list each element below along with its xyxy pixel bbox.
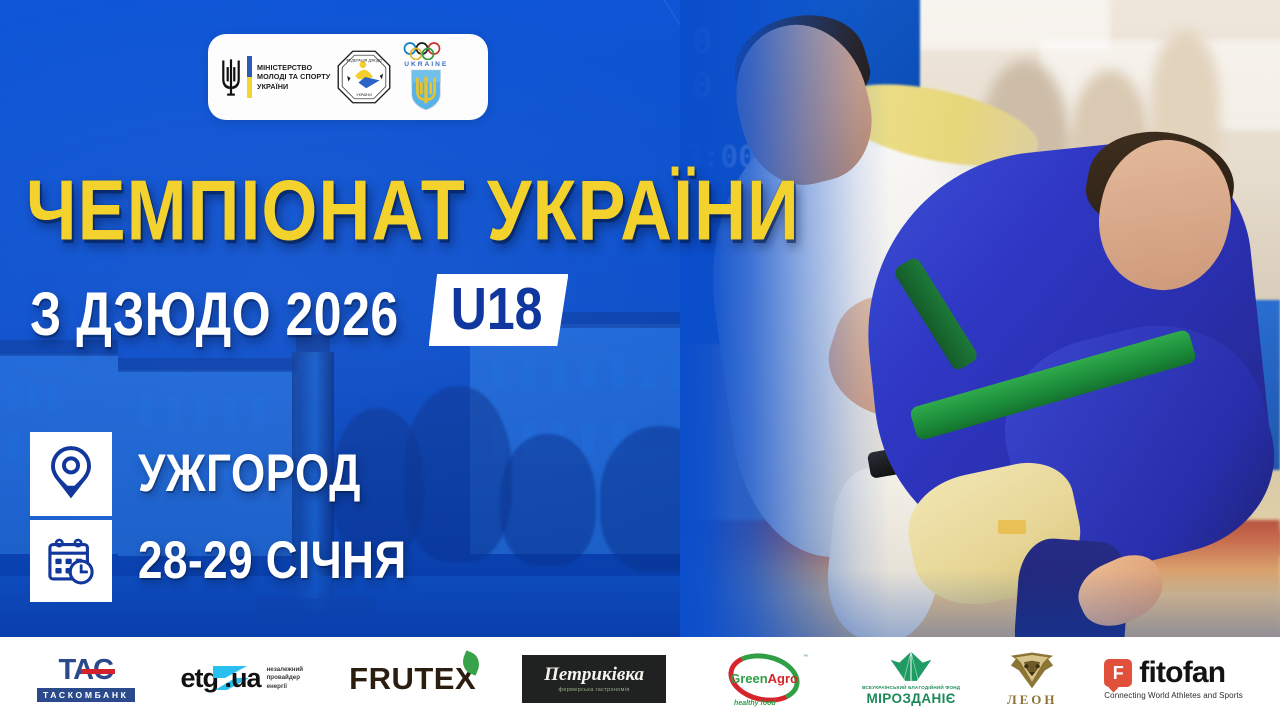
fitofan-mark-letter: F xyxy=(1113,664,1124,682)
date-value: 28-29 СІЧНЯ xyxy=(138,531,407,591)
greenagro-trademark: ™ xyxy=(803,654,808,660)
taskombank-wordmark: TAC xyxy=(59,656,113,685)
mirozdanie-name: МІРОЗДАНІЄ xyxy=(867,692,956,706)
sponsor-greenagro[interactable]: GreenAgro ™ healthy food xyxy=(712,650,816,708)
photo-left-fade xyxy=(680,0,890,640)
map-pin-icon xyxy=(47,445,95,503)
fitofan-wordmark: fitofan xyxy=(1139,658,1225,688)
etg-tagline: незалежний провайдер енергії xyxy=(267,666,304,691)
location-icon-box xyxy=(30,432,112,516)
sponsor-fitofan[interactable]: F fitofan Connecting World Athletes and … xyxy=(1104,650,1243,708)
sponsor-frutex[interactable]: FRUTEX xyxy=(349,650,476,708)
mirozdanie-tagline: ВСЕУКРАЇНСЬКИЙ БЛАГОДІЙНИЙ ФОНД xyxy=(862,685,960,690)
ukraine-shield-icon xyxy=(409,69,443,111)
leaf-icon xyxy=(459,650,483,675)
leon-name: ЛЕОН xyxy=(1007,693,1058,706)
age-category-label: U18 xyxy=(451,280,543,339)
age-category-badge: U18 xyxy=(429,274,569,346)
etg-wordmark: etg .ua xyxy=(181,665,261,692)
sponsor-bar: TAC ТАСКОМБАНК etg .ua незалежний провай… xyxy=(0,637,1280,720)
frutex-wordmark: FRUTEX xyxy=(349,663,476,694)
sponsor-leon[interactable]: ЛЕОН xyxy=(1006,650,1058,708)
greenagro-wordmark: GreenAgro xyxy=(730,672,798,685)
ministry-logo: МІНІСТЕРСТВО МОЛОДІ ТА СПОРТУ УКРАЇНИ xyxy=(220,55,330,99)
sponsor-mirozdanie[interactable]: ВСЕУКРАЇНСЬКИЙ БЛАГОДІЙНИЙ ФОНД МІРОЗДАН… xyxy=(862,650,960,708)
trident-icon xyxy=(220,55,242,99)
ukraine-flag-bar xyxy=(247,56,252,98)
judo-athletes-photo: 0 0 3:00 xyxy=(680,0,1280,640)
noc-country-label: UKRAINE xyxy=(404,61,448,68)
petrykivka-tagline: фермерська гастрономія xyxy=(558,687,629,693)
lion-head-icon xyxy=(1006,652,1058,692)
page-title-line2: З ДЗЮДО 2026 xyxy=(30,284,399,345)
fitofan-tagline: Connecting World Athletes and Sports xyxy=(1104,691,1243,700)
page-title-line2-row: З ДЗЮДО 2026 U18 xyxy=(30,284,568,346)
location-row: УЖГОРОД xyxy=(30,432,361,516)
greenagro-tagline: healthy food xyxy=(734,700,776,707)
fitofan-mark-icon: F xyxy=(1104,659,1132,687)
organizer-logo-bar: МІНІСТЕРСТВО МОЛОДІ ТА СПОРТУ УКРАЇНИ ФЕ… xyxy=(208,34,488,120)
taskombank-name: ТАСКОМБАНК xyxy=(37,688,135,702)
petrykivka-name: Петриківка xyxy=(544,665,644,684)
svg-text:УКРАЇНИ: УКРАЇНИ xyxy=(357,93,373,97)
date-row: 28-29 СІЧНЯ xyxy=(30,520,407,602)
date-icon-box xyxy=(30,520,112,602)
judo-championship-poster: 0 0 3:00 xyxy=(0,0,1280,720)
green-crystal-icon xyxy=(889,651,933,683)
sponsor-etg-ua[interactable]: etg .ua незалежний провайдер енергії xyxy=(181,650,304,708)
judo-federation-emblem: ФЕДЕРАЦІЯ ДЗЮДО УКРАЇНИ xyxy=(336,49,392,105)
calendar-clock-icon xyxy=(46,536,96,586)
photo-bottom-fade xyxy=(680,570,1280,640)
taskombank-red-bar xyxy=(81,669,115,674)
noc-ukraine-logo: UKRAINE xyxy=(398,42,454,112)
olympic-rings-icon xyxy=(401,42,451,60)
judogi-label xyxy=(998,520,1026,534)
location-value: УЖГОРОД xyxy=(138,444,361,504)
sponsor-taskombank[interactable]: TAC ТАСКОМБАНК xyxy=(37,650,135,708)
etg-suffix: .ua xyxy=(225,663,261,693)
svg-text:ФЕДЕРАЦІЯ ДЗЮДО: ФЕДЕРАЦІЯ ДЗЮДО xyxy=(346,58,382,62)
sponsor-petrykivka[interactable]: Петриківка фермерська гастрономія xyxy=(522,650,666,708)
page-title-line1: ЧЕМПІОНАТ УКРАЇНИ xyxy=(26,172,800,250)
ministry-name: МІНІСТЕРСТВО МОЛОДІ ТА СПОРТУ УКРАЇНИ xyxy=(257,63,330,92)
